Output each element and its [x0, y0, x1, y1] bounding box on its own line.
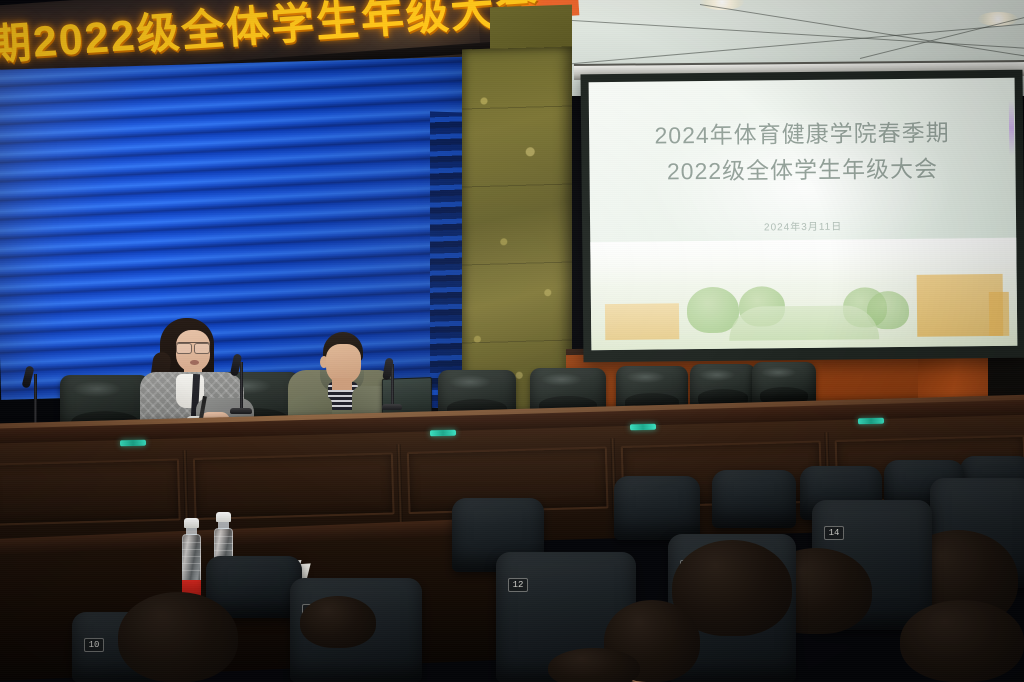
- nameplate-led: [430, 430, 456, 437]
- slide-title-line-1: 2024年体育健康学院春季期: [589, 114, 1015, 154]
- nameplate-led: [630, 424, 656, 431]
- campus-gate-icon: [729, 305, 879, 341]
- building-icon: [989, 292, 1009, 336]
- projector-screen-frame: 2024年体育健康学院春季期 2022级全体学生年级大会 2024年3月11日: [581, 70, 1024, 363]
- microphone-base: [230, 408, 252, 414]
- shutter-fold: [430, 111, 464, 408]
- audience-head: [900, 600, 1024, 682]
- audience-seat: [712, 470, 796, 528]
- nameplate-led: [858, 418, 884, 425]
- screen-lens-flare: [1009, 100, 1015, 156]
- conference-hall-photo: 欢迎 期2022级全体学生年级大会 2024年体: [0, 0, 1024, 682]
- audience-head: [300, 596, 376, 648]
- projection-surface: 2024年体育健康学院春季期 2022级全体学生年级大会 2024年3月11日: [589, 78, 1018, 350]
- slide-title: 2024年体育健康学院春季期 2022级全体学生年级大会: [589, 114, 1016, 190]
- audience-head: [118, 592, 238, 682]
- table-panel: [193, 452, 395, 520]
- neck: [332, 378, 352, 390]
- audience-seat: [614, 476, 700, 540]
- table-divider: [397, 444, 403, 524]
- microphone-base: [382, 404, 402, 410]
- mouth: [190, 360, 199, 365]
- blue-roller-shutter: [0, 56, 485, 399]
- eyeglasses-icon: [176, 342, 210, 351]
- building-icon: [605, 303, 679, 340]
- nameplate-led: [120, 440, 146, 447]
- seat-number: 14: [824, 526, 844, 540]
- marble-tiled-column: [462, 46, 572, 421]
- microphone-stem: [240, 362, 243, 410]
- slide-date: 2024年3月11日: [590, 216, 1016, 235]
- water-bottle: [182, 518, 201, 598]
- slide-title-line-2: 2022级全体学生年级大会: [589, 150, 1015, 190]
- table-panel: [0, 458, 181, 525]
- seat-number: 10: [84, 638, 104, 652]
- slide-campus-illustration: [590, 238, 1017, 350]
- audience-head: [548, 648, 640, 682]
- seat-number: 12: [508, 578, 528, 592]
